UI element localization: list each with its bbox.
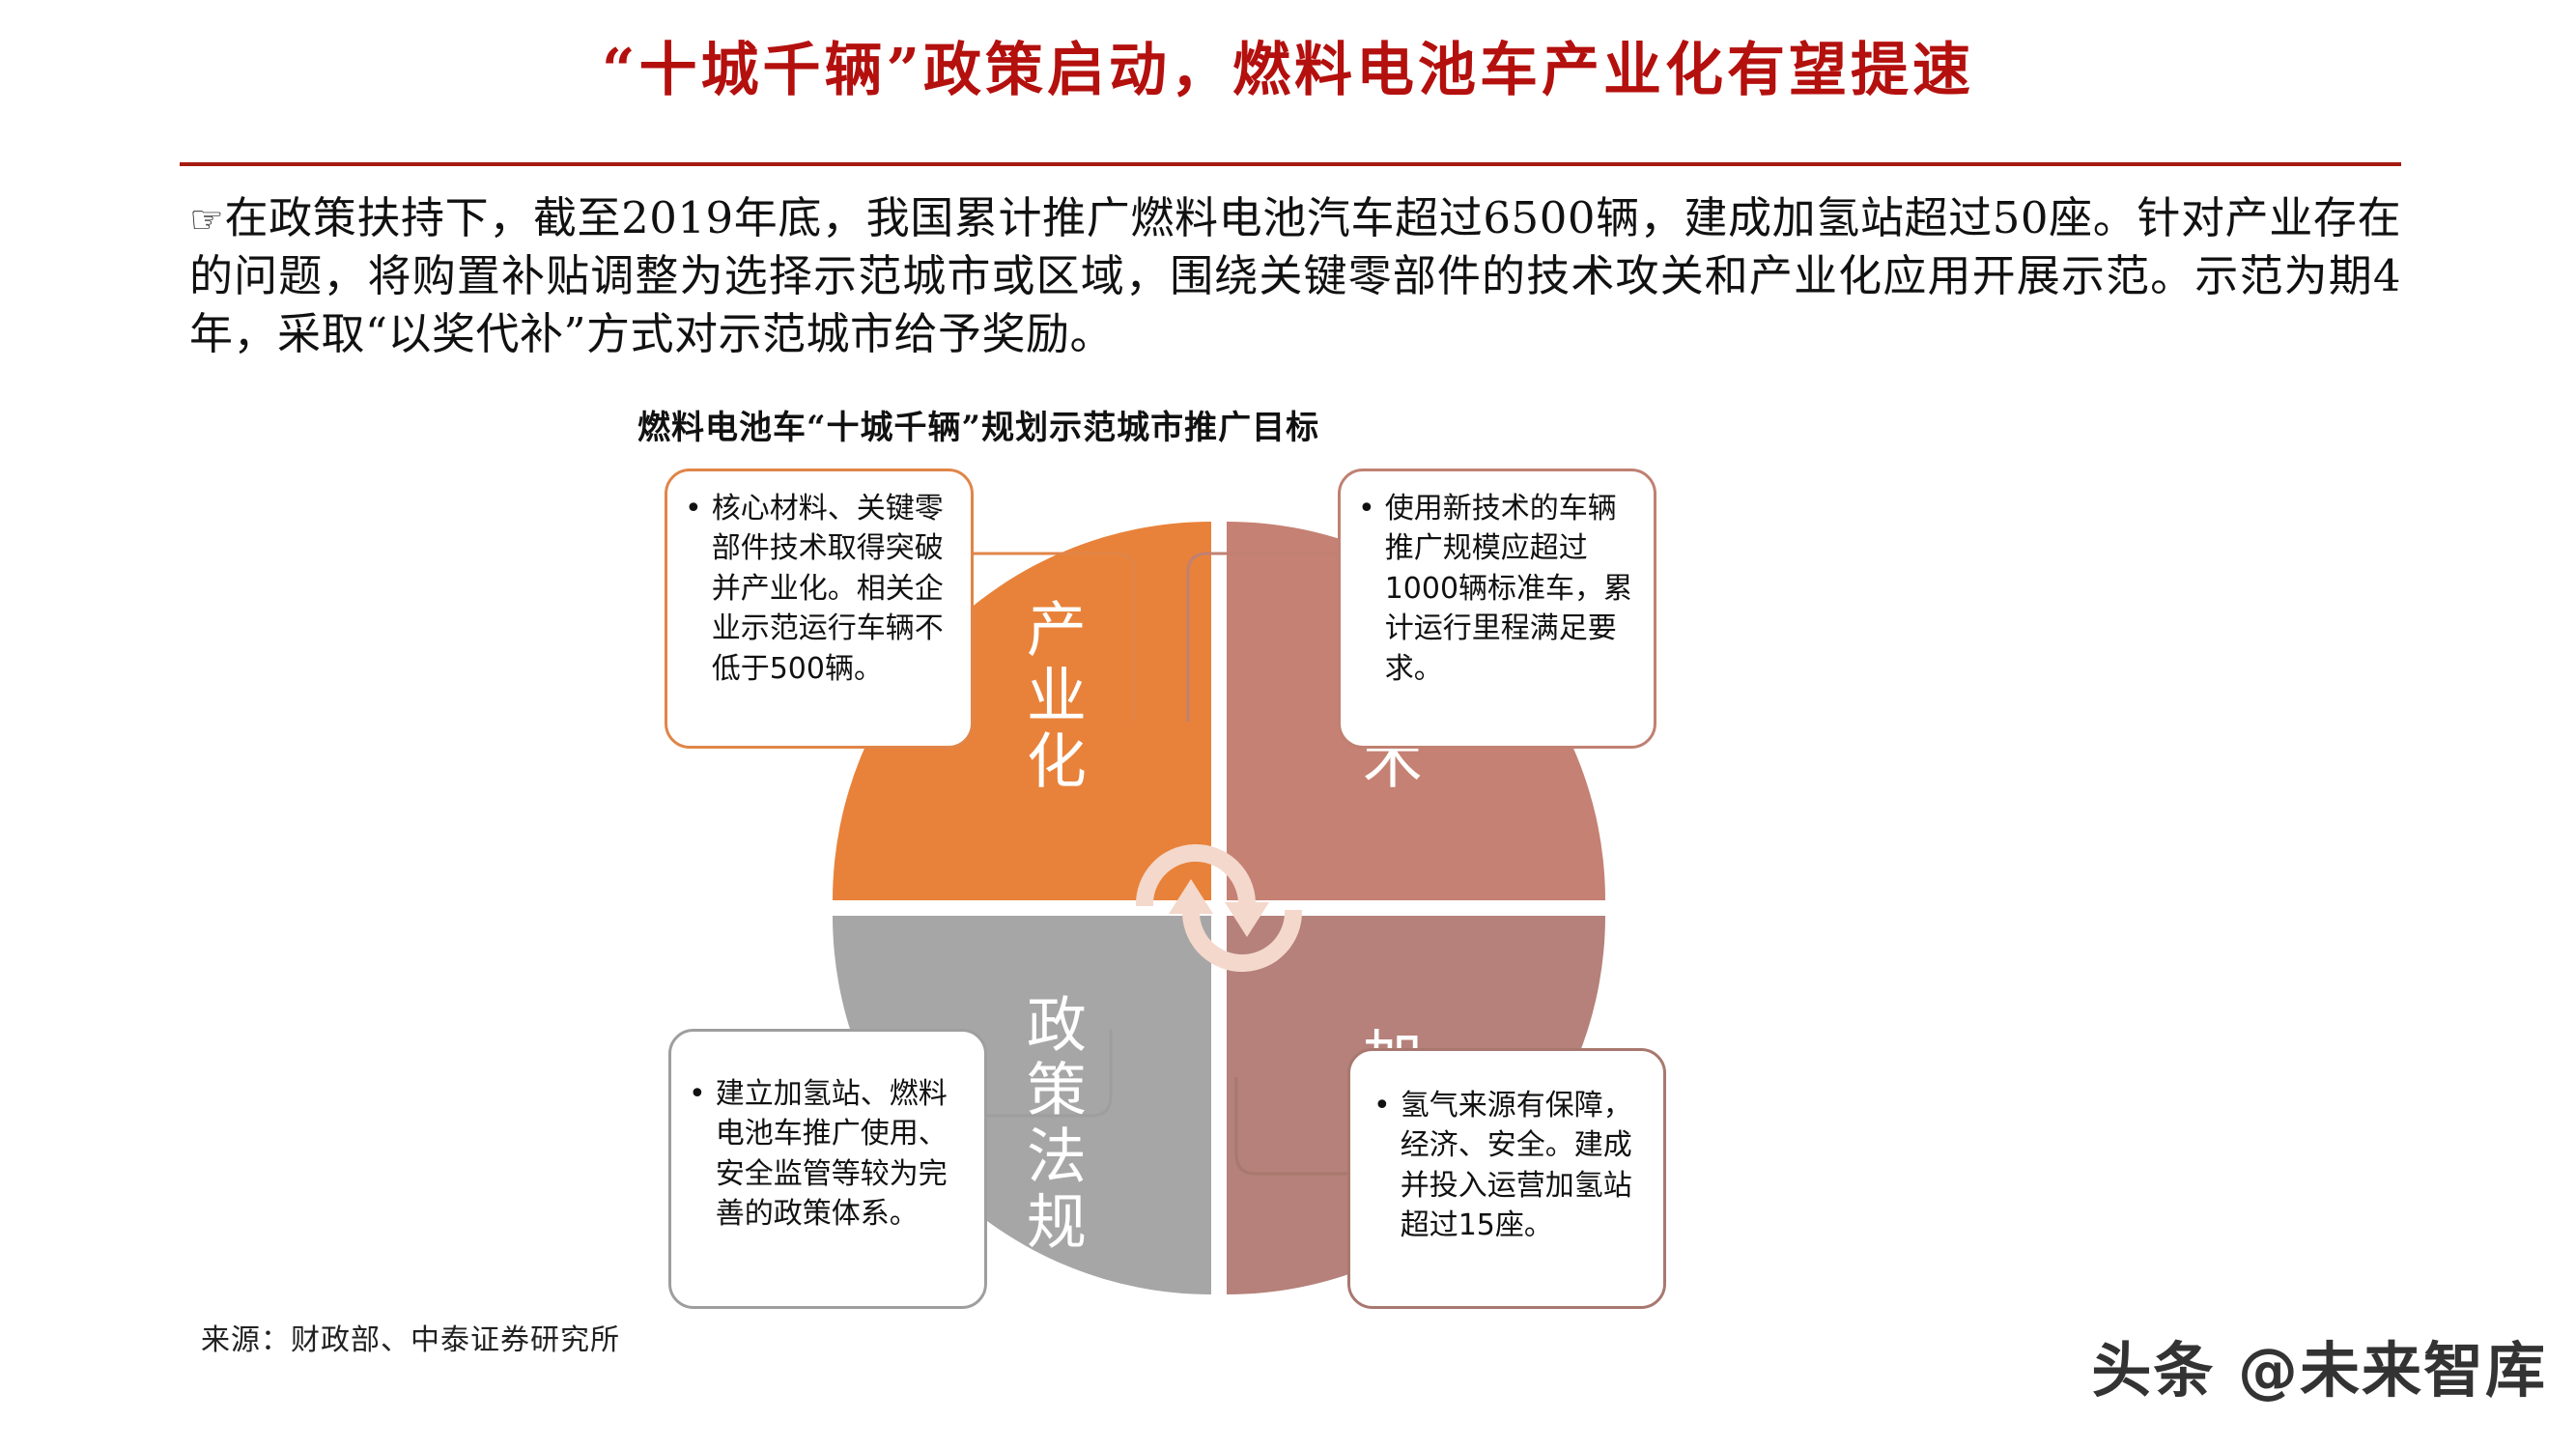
callout-hydrogen-station-text: 氢气来源有保障，经济、安全。建成并投入运营加氢站超过15座。: [1401, 1086, 1648, 1246]
callout-bullet-icon: •: [685, 489, 702, 528]
callout-new-technology[interactable]: • 使用新技术的车辆推广规模应超过1000辆标准车，累计运行里程满足要求。: [1338, 469, 1656, 749]
callout-new-technology-text: 使用新技术的车辆推广规模应超过1000辆标准车，累计运行里程满足要求。: [1385, 489, 1638, 689]
callout-hydrogen-station[interactable]: • 氢气来源有保障，经济、安全。建成并投入运营加氢站超过15座。: [1347, 1048, 1666, 1309]
callout-policy-regulation[interactable]: • 建立加氢站、燃料电池车推广使用、安全监管等较为完善的政策体系。: [668, 1029, 987, 1309]
circular-arrows-icon: [1113, 802, 1325, 1014]
callout-industrialization[interactable]: • 核心材料、关键零部件技术取得突破并产业化。相关企业示范运行车辆不低于500辆…: [665, 469, 974, 749]
page-title: “十城千辆”政策启动，燃料电池车产业化有望提速: [0, 39, 2576, 102]
quadrant-wheel-diagram: 产业化 新技术 政策法规 加氢站 • 核: [0, 440, 2576, 1348]
body-paragraph: ☞在政策扶持下，截至2019年底，我国累计推广燃料电池汽车超过6500辆，建成加…: [189, 189, 2401, 363]
title-divider: [180, 162, 2401, 166]
title-block: “十城千辆”政策启动，燃料电池车产业化有望提速: [0, 39, 2576, 102]
callout-policy-regulation-text: 建立加氢站、燃料电池车推广使用、安全监管等较为完善的政策体系。: [716, 1074, 969, 1235]
body-paragraph-text: 在政策扶持下，截至2019年底，我国累计推广燃料电池汽车超过6500辆，建成加氢…: [189, 192, 2401, 359]
callout-industrialization-text: 核心材料、关键零部件技术取得突破并产业化。相关企业示范运行车辆不低于500辆。: [712, 489, 955, 689]
callout-bullet-icon: •: [689, 1074, 706, 1114]
callout-bullet-icon: •: [1358, 489, 1375, 528]
pointing-hand-icon: ☞: [189, 198, 224, 242]
callout-bullet-icon: •: [1373, 1086, 1391, 1125]
